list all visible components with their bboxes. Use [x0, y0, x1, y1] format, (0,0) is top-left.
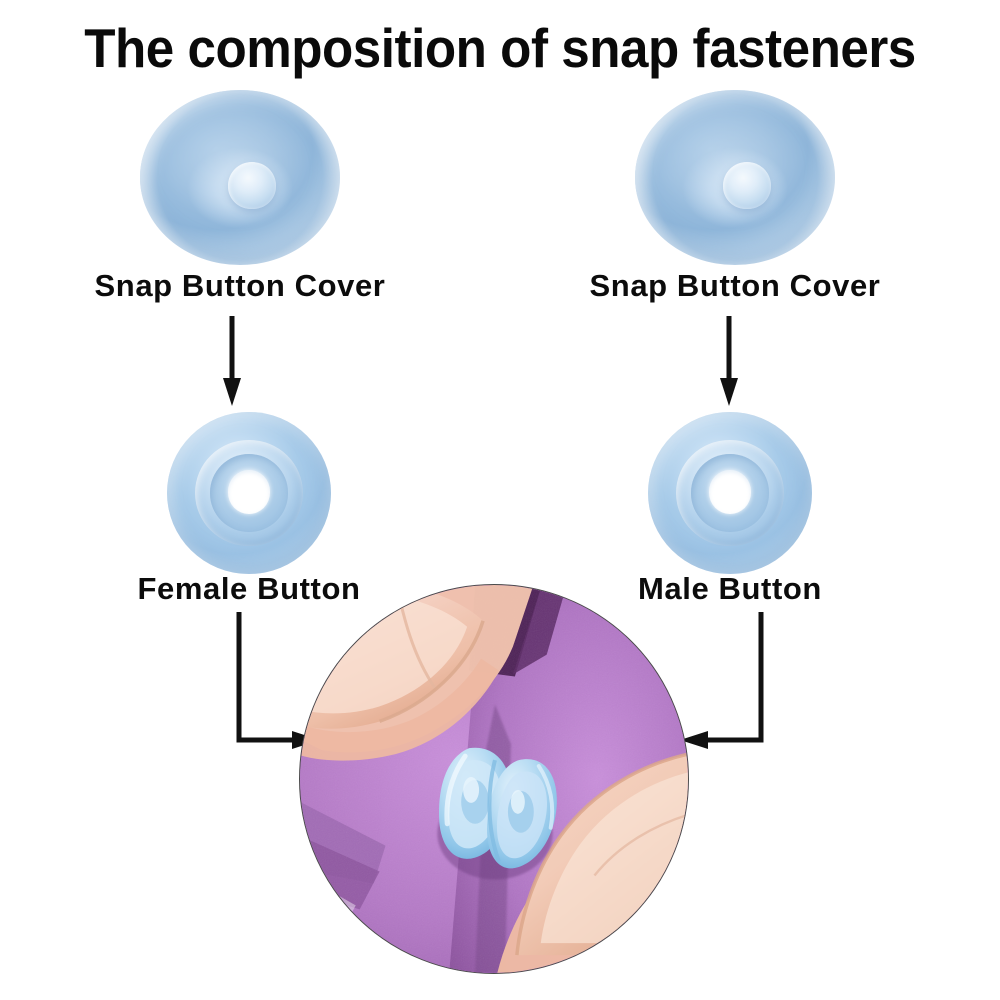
female-button-left	[167, 412, 331, 574]
cover-nub	[723, 162, 771, 209]
ring-center-hole	[709, 470, 752, 514]
label-snap-button-cover-right: Snap Button Cover	[535, 269, 935, 303]
snap-button-cover-right	[635, 90, 835, 265]
female-snap-ring-icon	[167, 412, 331, 574]
snap-button-cover-dome-icon	[140, 90, 340, 265]
assembled-snap-photo-artwork	[300, 585, 688, 973]
ring-center-hole	[228, 470, 271, 514]
cover-nub	[228, 162, 276, 209]
label-male-button: Male Button	[530, 572, 930, 606]
male-button-right	[648, 412, 812, 574]
male-snap-ring-icon	[648, 412, 812, 574]
snap-button-cover-dome-icon	[635, 90, 835, 265]
diagram-canvas: The composition of snap fasteners Snap B…	[0, 0, 1000, 1000]
snap-button-cover-left	[140, 90, 340, 265]
arrow-down-icon-left	[215, 316, 249, 406]
assembled-snap-photo	[299, 584, 689, 974]
label-female-button: Female Button	[49, 572, 449, 606]
label-snap-button-cover-left: Snap Button Cover	[40, 269, 440, 303]
page-title: The composition of snap fasteners	[35, 18, 965, 78]
arrow-elbow-left-icon	[678, 612, 778, 762]
arrow-down-icon-right	[712, 316, 746, 406]
